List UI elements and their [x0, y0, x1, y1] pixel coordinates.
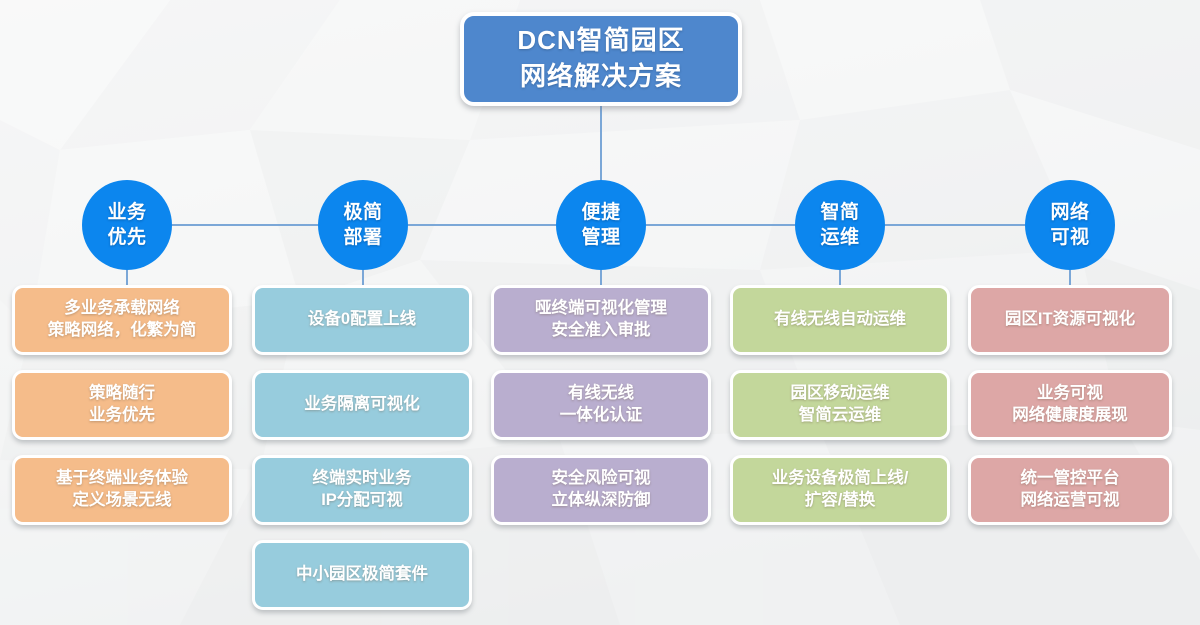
feature-card-smart-ops-2[interactable]: 园区移动运维智简云运维 — [730, 370, 950, 440]
feature-card-line: 园区IT资源可视化 — [1005, 309, 1135, 331]
solution-title-line1: DCN智简园区 — [517, 23, 684, 59]
pillar-node-business-first[interactable]: 业务优先 — [82, 180, 172, 270]
feature-card-line: 哑终端可视化管理 — [535, 298, 667, 320]
feature-card-smart-ops-3[interactable]: 业务设备极简上线/扩容/替换 — [730, 455, 950, 525]
pillar-node-simple-deployment[interactable]: 极简部署 — [318, 180, 408, 270]
pillar-label-line2: 优先 — [107, 226, 146, 249]
feature-card-line: 终端实时业务 — [313, 468, 412, 490]
pillar-label-line1: 业务 — [107, 201, 146, 224]
feature-card-business-first-3[interactable]: 基于终端业务体验定义场景无线 — [12, 455, 232, 525]
feature-card-line: 策略网络，化繁为简 — [48, 320, 197, 342]
feature-card-line: 有线无线 — [568, 383, 634, 405]
pillar-label-line1: 极简 — [343, 201, 382, 224]
feature-card-simple-deployment-1[interactable]: 设备0配置上线 — [252, 285, 472, 355]
feature-card-line: 设备0配置上线 — [308, 309, 416, 331]
feature-card-line: 安全风险可视 — [552, 468, 651, 490]
feature-card-line: 园区移动运维 — [791, 383, 890, 405]
feature-card-line: 多业务承载网络 — [64, 298, 180, 320]
feature-card-line: 业务设备极简上线/ — [772, 468, 909, 490]
feature-card-easy-management-1[interactable]: 哑终端可视化管理安全准入审批 — [491, 285, 711, 355]
feature-card-line: 网络运营可视 — [1021, 490, 1120, 512]
feature-card-network-visible-2[interactable]: 业务可视网络健康度展现 — [968, 370, 1172, 440]
feature-card-line: 业务隔离可视化 — [304, 394, 420, 416]
feature-card-line: 基于终端业务体验 — [56, 468, 188, 490]
pillar-label-line2: 运维 — [820, 226, 859, 249]
feature-card-line: 一体化认证 — [560, 405, 643, 427]
feature-card-line: IP分配可视 — [321, 490, 403, 512]
pillar-label-line2: 可视 — [1050, 226, 1089, 249]
feature-card-line: 扩容/替换 — [805, 490, 876, 512]
feature-card-business-first-2[interactable]: 策略随行业务优先 — [12, 370, 232, 440]
feature-card-business-first-1[interactable]: 多业务承载网络策略网络，化繁为简 — [12, 285, 232, 355]
feature-card-line: 立体纵深防御 — [552, 490, 651, 512]
feature-card-line: 定义场景无线 — [73, 490, 172, 512]
feature-card-line: 业务可视 — [1037, 383, 1103, 405]
feature-card-line: 智简云运维 — [799, 405, 882, 427]
pillar-label-line1: 智简 — [820, 201, 859, 224]
pillar-node-smart-ops[interactable]: 智简运维 — [795, 180, 885, 270]
feature-card-simple-deployment-2[interactable]: 业务隔离可视化 — [252, 370, 472, 440]
feature-card-smart-ops-1[interactable]: 有线无线自动运维 — [730, 285, 950, 355]
solution-title-box: DCN智简园区 网络解决方案 — [460, 12, 742, 106]
feature-card-line: 中小园区极简套件 — [296, 564, 428, 586]
feature-card-line: 网络健康度展现 — [1012, 405, 1128, 427]
feature-card-line: 有线无线自动运维 — [774, 309, 906, 331]
feature-card-simple-deployment-4[interactable]: 中小园区极简套件 — [252, 540, 472, 610]
feature-card-network-visible-1[interactable]: 园区IT资源可视化 — [968, 285, 1172, 355]
feature-card-easy-management-3[interactable]: 安全风险可视立体纵深防御 — [491, 455, 711, 525]
pillar-node-easy-management[interactable]: 便捷管理 — [556, 180, 646, 270]
pillar-label-line1: 便捷 — [581, 201, 620, 224]
feature-card-line: 策略随行 — [89, 383, 155, 405]
feature-card-simple-deployment-3[interactable]: 终端实时业务IP分配可视 — [252, 455, 472, 525]
pillar-label-line2: 部署 — [343, 226, 382, 249]
feature-card-network-visible-3[interactable]: 统一管控平台网络运营可视 — [968, 455, 1172, 525]
feature-card-line: 统一管控平台 — [1021, 468, 1120, 490]
feature-card-line: 安全准入审批 — [552, 320, 651, 342]
pillar-label-line1: 网络 — [1050, 201, 1089, 224]
solution-title-line2: 网络解决方案 — [520, 59, 682, 95]
feature-card-easy-management-2[interactable]: 有线无线一体化认证 — [491, 370, 711, 440]
feature-card-line: 业务优先 — [89, 405, 155, 427]
pillar-label-line2: 管理 — [581, 226, 620, 249]
pillar-node-network-visible[interactable]: 网络可视 — [1025, 180, 1115, 270]
